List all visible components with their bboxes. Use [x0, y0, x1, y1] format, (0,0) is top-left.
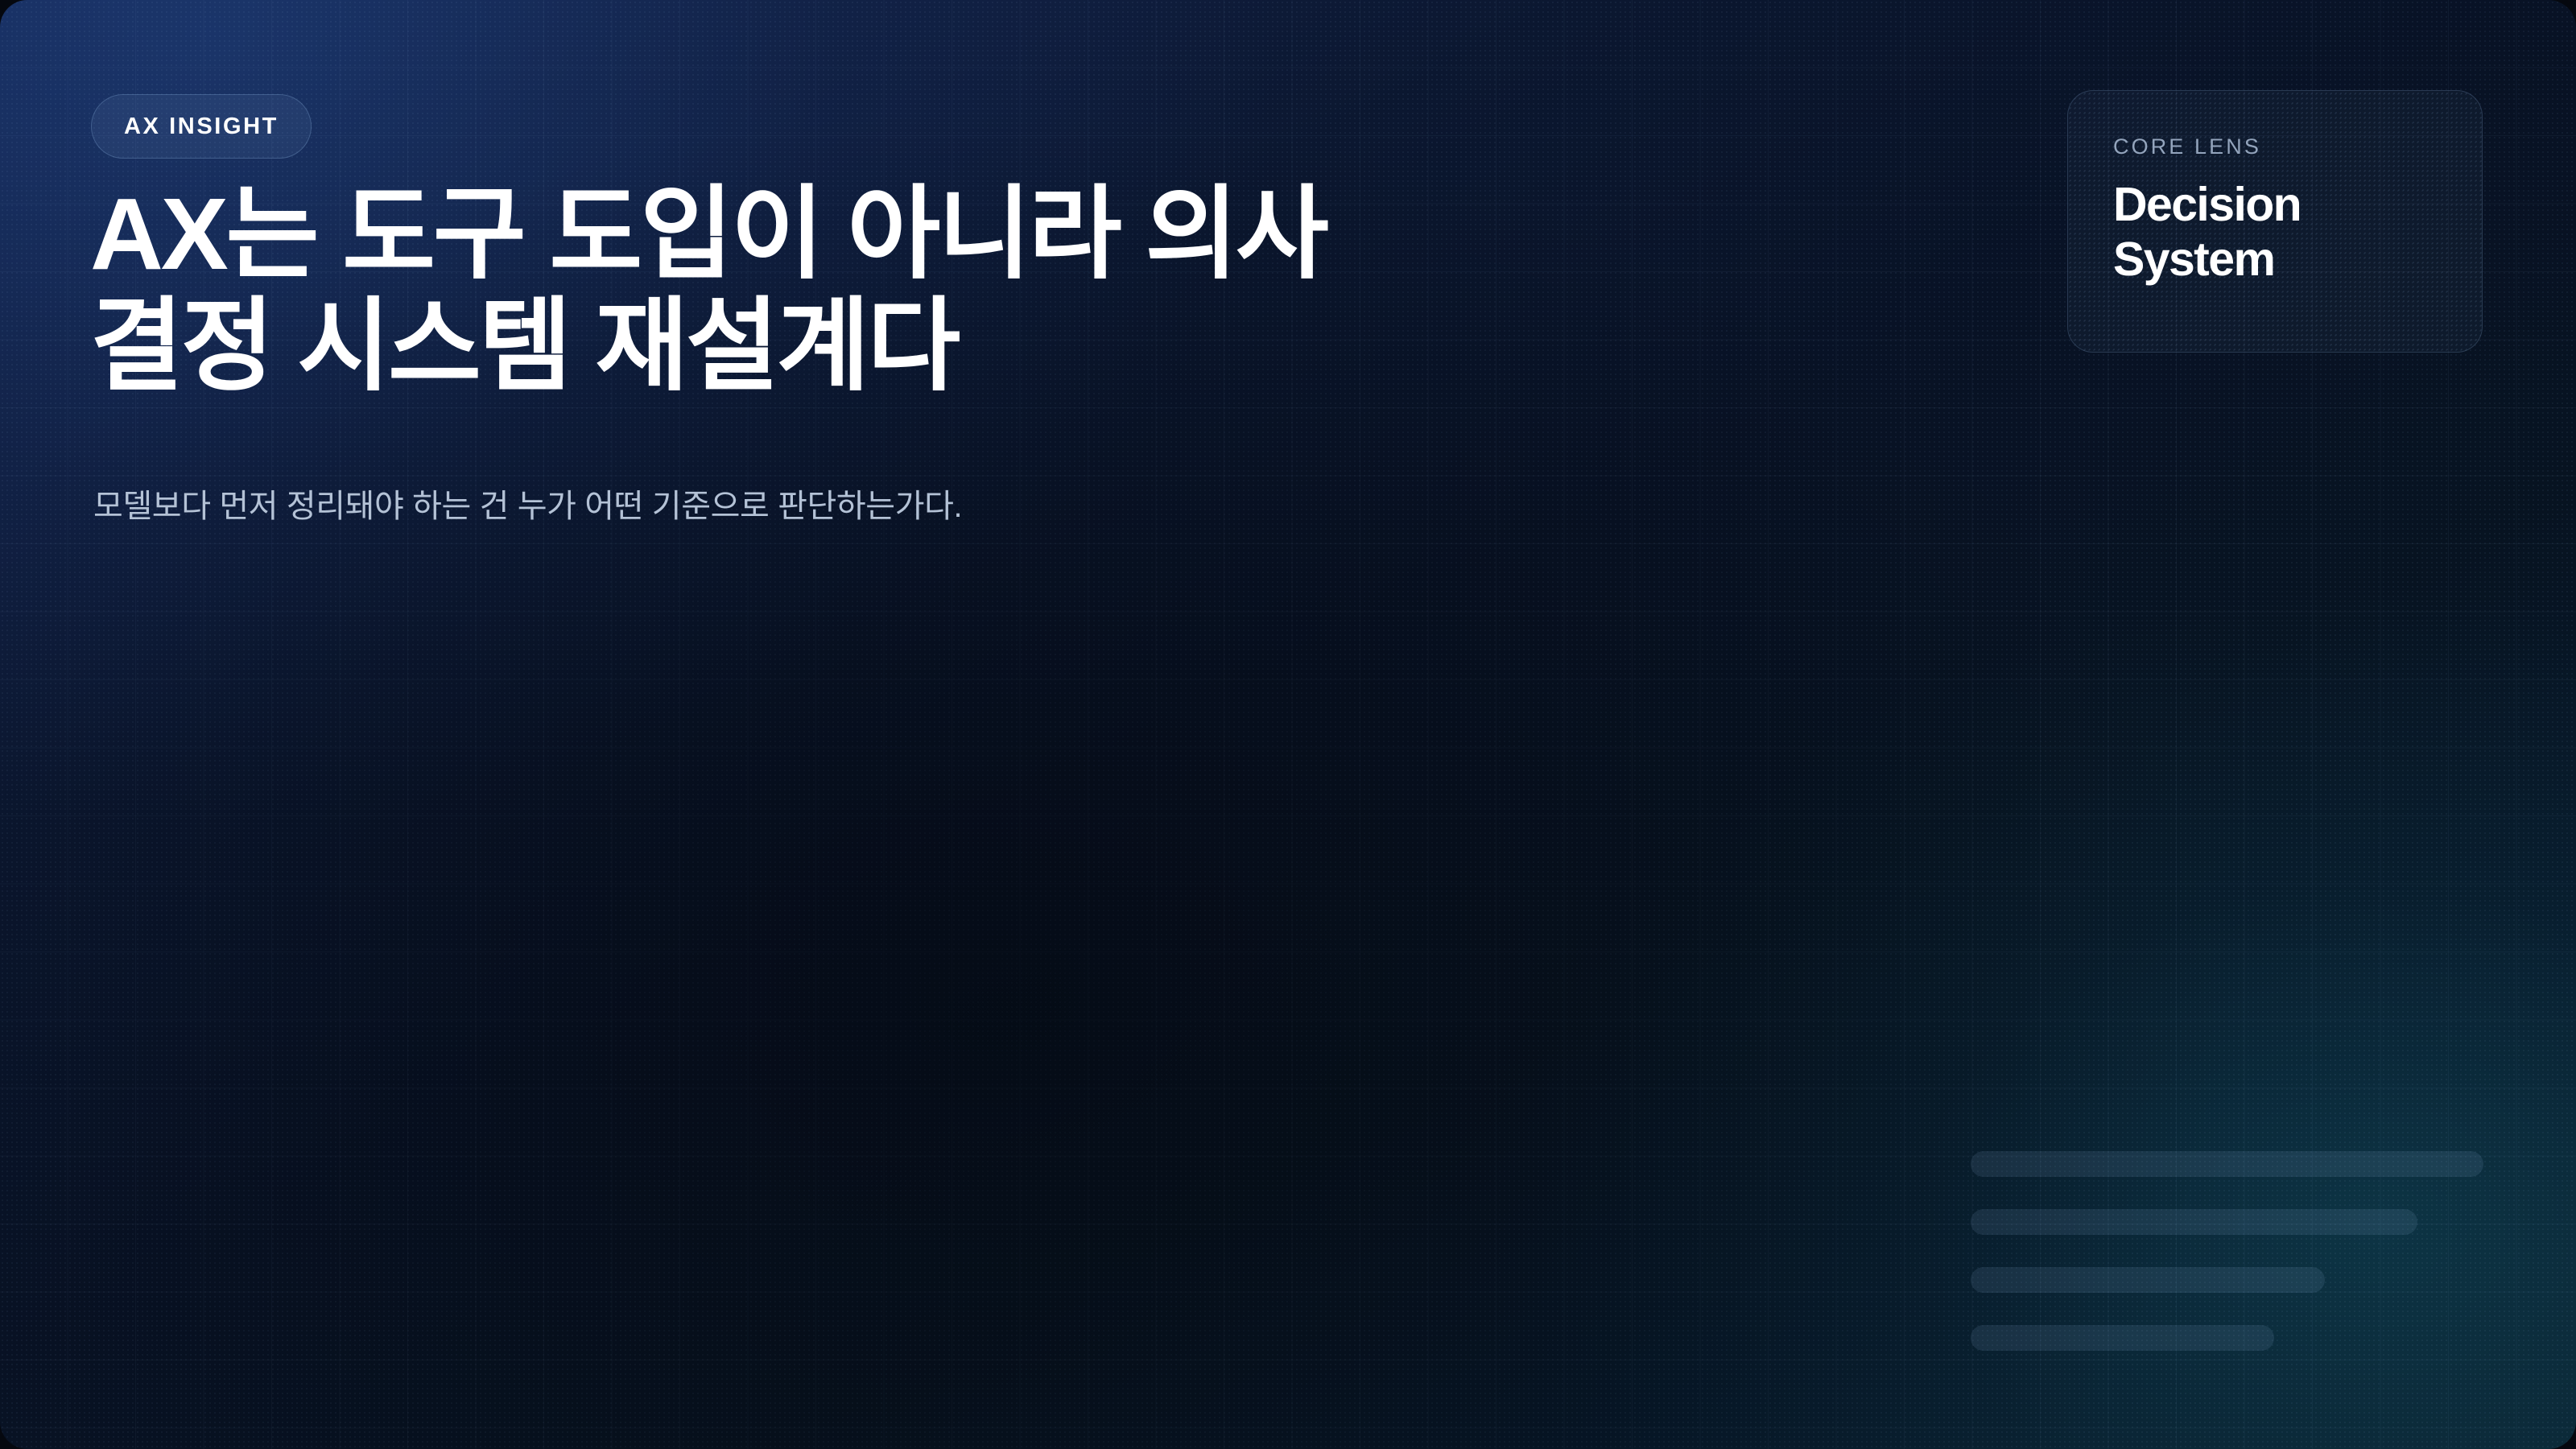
page-title: AX는 도구 도입이 아니라 의사 결정 시스템 재설계다: [90, 179, 1821, 402]
skeleton-bar: [1971, 1325, 2274, 1351]
skeleton-bar: [1971, 1209, 2417, 1235]
slide-canvas: AX INSIGHT AX는 도구 도입이 아니라 의사 결정 시스템 재설계다…: [0, 0, 2576, 1449]
core-lens-eyebrow: CORE LENS: [2113, 134, 2437, 159]
core-lens-card[interactable]: CORE LENS Decision System: [2067, 90, 2483, 353]
skeleton-placeholder-group: [1971, 1151, 2534, 1351]
core-lens-title: Decision System: [2113, 177, 2437, 287]
badge-label: AX INSIGHT: [124, 114, 279, 140]
ax-insight-badge[interactable]: AX INSIGHT: [91, 94, 312, 159]
skeleton-bar: [1971, 1267, 2325, 1293]
page-subtitle: 모델보다 먼저 정리돼야 하는 건 누가 어떤 기준으로 판단하는가다.: [93, 480, 962, 526]
skeleton-bar: [1971, 1151, 2483, 1177]
